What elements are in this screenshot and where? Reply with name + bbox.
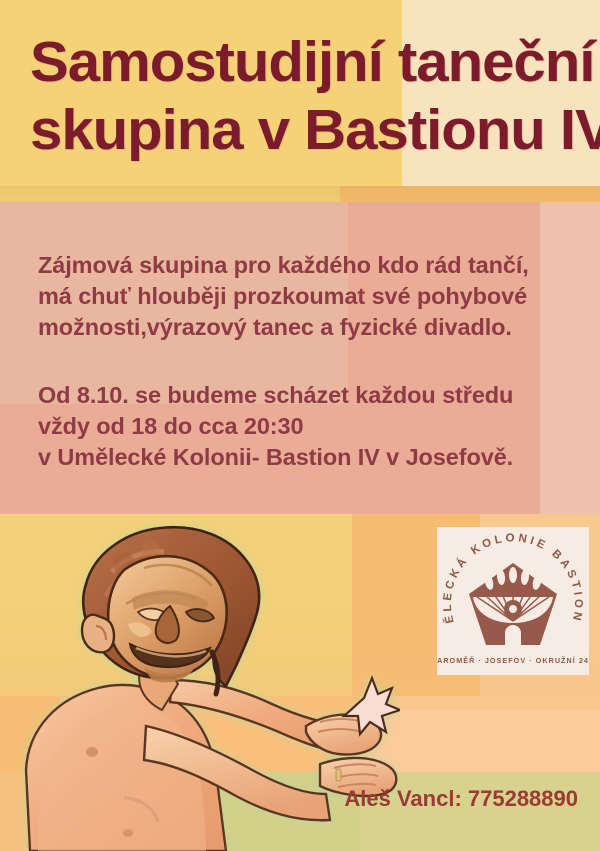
schedule-line-3: v Umělecké Kolonii- Bastion IV v Josefov… xyxy=(38,442,578,473)
dancer-mask-head xyxy=(82,527,259,694)
schedule-line-1: Od 8.10. se budeme scházet každou středu xyxy=(38,380,578,411)
bg-gradient-overlay-seam xyxy=(0,186,600,208)
poster-title: Samostudijní taneční skupina v Bastionu … xyxy=(30,28,575,164)
title-line-2: skupina v Bastionu IV xyxy=(30,96,586,164)
logo-footer-text: JAROMĚŘ · JOSEFOV · OKRUŽNÍ 242 xyxy=(437,656,589,665)
intro-line-2: má chuť hlouběji prozkoumat své pohybové xyxy=(38,281,578,312)
umelecka-kolonie-logo-badge[interactable]: UMĚLECKÁ KOLONIE BASTION IV xyxy=(437,527,589,675)
contact-line: Aleš Vancl: 775288890 xyxy=(0,786,578,812)
title-line-1: Samostudijní taneční xyxy=(30,28,586,96)
schedule-line-2: vždy od 18 do cca 20:30 xyxy=(38,411,578,442)
bastion-pentagon-icon xyxy=(469,563,557,645)
schedule-paragraph: Od 8.10. se budeme scházet každou středu… xyxy=(38,380,578,473)
intro-line-1: Zájmová skupina pro každého kdo rád tanč… xyxy=(38,250,578,281)
intro-line-3: možnosti,výrazový tanec a fyzické divadl… xyxy=(38,312,578,343)
intro-paragraph: Zájmová skupina pro každého kdo rád tanč… xyxy=(38,250,578,343)
poster-canvas: Samostudijní taneční skupina v Bastionu … xyxy=(0,0,600,851)
